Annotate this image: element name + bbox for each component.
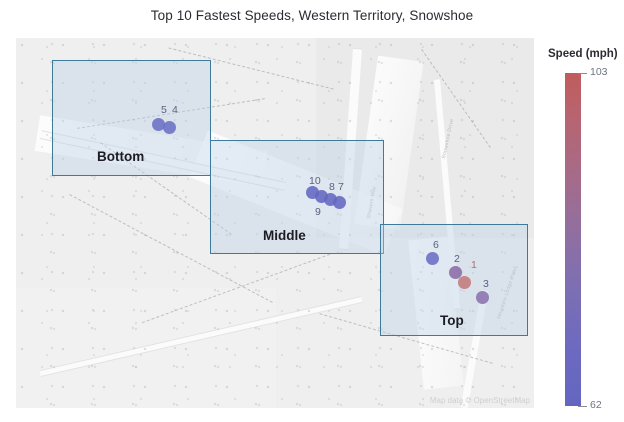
data-point-label-3: 3 — [483, 278, 489, 290]
map-attribution: Map data © OpenStreetMap — [430, 396, 530, 405]
data-point-4[interactable] — [163, 121, 176, 134]
legend-tick-min — [578, 406, 587, 407]
data-point-3[interactable] — [476, 291, 489, 304]
data-point-label-6: 6 — [433, 239, 439, 251]
region-label-bottom: Bottom — [97, 149, 144, 164]
map-canvas[interactable]: Snowshoe Drive Shavers Way Mountain Lodg… — [16, 38, 534, 408]
legend-gradient-bar — [565, 73, 581, 406]
legend-tick-max — [578, 73, 587, 74]
data-point-label-9: 9 — [315, 206, 321, 218]
legend-title: Speed (mph) — [548, 48, 618, 60]
data-point-label-1: 1 — [471, 259, 477, 271]
data-point-6[interactable] — [426, 252, 439, 265]
data-point-1[interactable] — [458, 276, 471, 289]
data-point-7[interactable] — [333, 196, 346, 209]
legend-max-label: 103 — [590, 66, 608, 78]
page-title: Top 10 Fastest Speeds, Western Territory… — [0, 8, 624, 23]
data-point-label-7: 7 — [338, 181, 344, 193]
region-label-top: Top — [440, 313, 464, 328]
data-point-label-5: 5 — [161, 104, 167, 116]
data-point-label-8: 8 — [329, 181, 335, 193]
data-point-label-4: 4 — [172, 104, 178, 116]
region-label-middle: Middle — [263, 228, 306, 243]
legend: Speed (mph) 103 62 — [548, 44, 624, 414]
data-point-label-2: 2 — [454, 253, 460, 265]
legend-min-label: 62 — [590, 399, 602, 411]
data-point-label-10: 10 — [309, 175, 321, 187]
